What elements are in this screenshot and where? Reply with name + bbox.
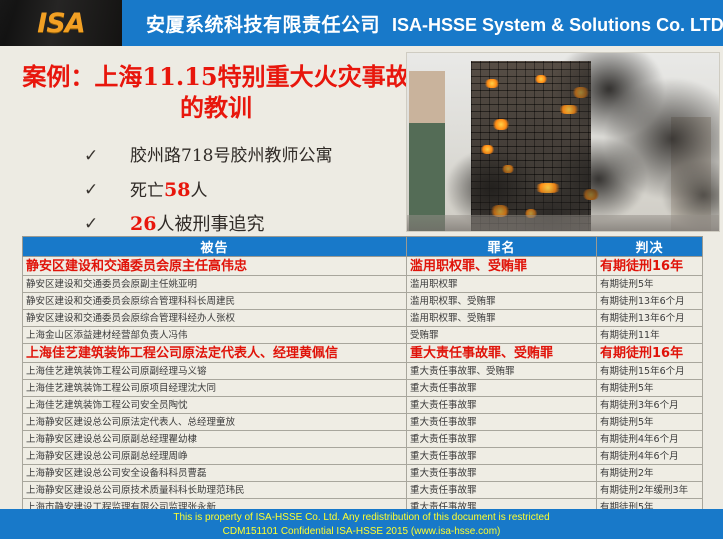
check-icon: ✓ [78,143,130,169]
cell-charge: 重大责任事故罪 [407,414,597,431]
cell-verdict: 有期徒刑13年6个月 [597,293,703,310]
table-row: 上海佳艺建筑装饰工程公司安全员陶忱重大责任事故罪有期徒刑3年6个月 [23,397,703,414]
deaths-prefix: 死亡 [130,181,164,201]
table-row: 上海静安区建设总公司原副总经理周峥重大责任事故罪有期徒刑4年6个月 [23,448,703,465]
col-header-verdict: 判决 [597,237,703,257]
cell-charge: 重大责任事故罪 [407,448,597,465]
list-item: ✓ 胶州路718号胶州教师公寓 [78,143,408,171]
cell-verdict: 有期徒刑3年6个月 [597,397,703,414]
footer-line-2: CDM151101 Confidential ISA-HSSE 2015 (ww… [0,525,723,539]
prosecuted-count: 26 [130,213,156,235]
cell-verdict: 有期徒刑2年 [597,465,703,482]
table-row: 上海静安区建设总公司原法定代表人、总经理童放重大责任事故罪有期徒刑5年 [23,414,703,431]
cell-defendant: 上海金山区添益建材经营部负责人冯伟 [23,327,407,344]
bullet-text-location: 胶州路718号胶州教师公寓 [130,143,332,169]
table-row: 上海佳艺建筑装饰工程公司原项目经理沈大同重大责任事故罪有期徒刑5年 [23,380,703,397]
cell-charge: 重大责任事故罪、受贿罪 [407,363,597,380]
cell-defendant: 静安区建设和交通委员会原主任高伟忠 [23,257,407,276]
cell-charge: 重大责任事故罪 [407,482,597,499]
cell-defendant: 上海佳艺建筑装饰工程公司安全员陶忱 [23,397,407,414]
table-row: 上海金山区添益建材经营部负责人冯伟受贿罪有期徒刑11年 [23,327,703,344]
cell-defendant: 上海静安区建设总公司原技术质量科科长助理范玮民 [23,482,407,499]
footer-bar: This is property of ISA-HSSE Co. Ltd. An… [0,509,723,539]
table-row: 静安区建设和交通委员会原综合管理科经办人张权滥用职权罪、受贿罪有期徒刑13年6个… [23,310,703,327]
logo-text: ISA [37,8,84,39]
cell-charge: 重大责任事故罪 [407,397,597,414]
page-title: 案例：上海11.15特别重大火灾事故 的教训 [22,62,410,123]
cell-verdict: 有期徒刑11年 [597,327,703,344]
cell-verdict: 有期徒刑2年缓刑3年 [597,482,703,499]
table-row: 上海静安区建设总公司原副总经理瞿幼棣重大责任事故罪有期徒刑4年6个月 [23,431,703,448]
photo-ground [407,215,719,231]
cell-charge: 滥用职权罪、受贿罪 [407,310,597,327]
cell-verdict: 有期徒刑16年 [597,257,703,276]
cell-charge: 重大责任事故罪 [407,380,597,397]
cell-defendant: 上海静安区建设总公司原副总经理瞿幼棣 [23,431,407,448]
cell-verdict: 有期徒刑4年6个月 [597,448,703,465]
cell-verdict: 有期徒刑15年6个月 [597,363,703,380]
footer-line-1: This is property of ISA-HSSE Co. Ltd. An… [0,511,723,525]
isa-logo: ISA [0,0,122,46]
cell-defendant: 上海佳艺建筑装饰工程公司原法定代表人、经理黄佩信 [23,344,407,363]
page-title-line2: 的教训 [22,93,410,124]
cell-verdict: 有期徒刑5年 [597,380,703,397]
check-icon: ✓ [78,177,130,203]
cell-charge: 重大责任事故罪、受贿罪 [407,344,597,363]
col-header-charge: 罪名 [407,237,597,257]
table-header-row: 被告 罪名 判决 [23,237,703,257]
table-row: 上海佳艺建筑装饰工程公司原法定代表人、经理黄佩信重大责任事故罪、受贿罪有期徒刑1… [23,344,703,363]
photo-building-left [409,71,445,231]
col-header-defendant: 被告 [23,237,407,257]
table-row: 静安区建设和交通委员会原副主任姚亚明滥用职权罪有期徒刑5年 [23,276,703,293]
company-name-cn: 安厦系统科技有限责任公司 [146,10,380,37]
cell-defendant: 上海静安区建设总公司安全设备科科员曹磊 [23,465,407,482]
cell-defendant: 上海佳艺建筑装饰工程公司原项目经理沈大同 [23,380,407,397]
list-item: ✓ 26人被刑事追究 [78,211,408,239]
cell-defendant: 上海佳艺建筑装饰工程公司原副经理马义镕 [23,363,407,380]
cell-defendant: 上海静安区建设总公司原法定代表人、总经理童放 [23,414,407,431]
fire-photo [406,52,720,232]
cell-defendant: 上海静安区建设总公司原副总经理周峥 [23,448,407,465]
table-row: 上海静安区建设总公司安全设备科科员曹磊重大责任事故罪有期徒刑2年 [23,465,703,482]
cell-verdict: 有期徒刑5年 [597,276,703,293]
cell-charge: 滥用职权罪 [407,276,597,293]
cell-verdict: 有期徒刑5年 [597,414,703,431]
bullet-text-prosecuted: 26人被刑事追究 [130,211,264,238]
table-row: 静安区建设和交通委员会原综合管理科科长周建民滥用职权罪、受贿罪有期徒刑13年6个… [23,293,703,310]
check-icon: ✓ [78,211,130,237]
photo-flame [485,79,499,88]
table-row: 静安区建设和交通委员会原主任高伟忠滥用职权罪、受贿罪有期徒刑16年 [23,257,703,276]
table-row: 上海静安区建设总公司原技术质量科科长助理范玮民重大责任事故罪有期徒刑2年缓刑3年 [23,482,703,499]
list-item: ✓ 死亡58人 [78,177,408,205]
bullet-list: ✓ 胶州路718号胶州教师公寓 ✓ 死亡58人 ✓ 26人被刑事追究 [78,143,408,245]
table-row: 上海佳艺建筑装饰工程公司原副经理马义镕重大责任事故罪、受贿罪有期徒刑15年6个月 [23,363,703,380]
table-body: 静安区建设和交通委员会原主任高伟忠滥用职权罪、受贿罪有期徒刑16年静安区建设和交… [23,257,703,533]
app-header-bar: ISA 安厦系统科技有限责任公司 ISA-HSSE System & Solut… [0,0,723,46]
page-title-line1: 案例：上海11.15特别重大火灾事故 [22,62,410,93]
cell-charge: 受贿罪 [407,327,597,344]
deaths-count: 58 [164,179,190,201]
cell-charge: 滥用职权罪、受贿罪 [407,257,597,276]
header-titles: 安厦系统科技有限责任公司 ISA-HSSE System & Solutions… [122,10,723,37]
verdict-table: 被告 罪名 判决 静安区建设和交通委员会原主任高伟忠滥用职权罪、受贿罪有期徒刑1… [22,236,703,533]
cell-charge: 重大责任事故罪 [407,465,597,482]
photo-smoke-plume [525,52,720,232]
prosecuted-suffix: 人被刑事追究 [156,214,264,235]
deaths-suffix: 人 [190,181,207,201]
cell-defendant: 静安区建设和交通委员会原副主任姚亚明 [23,276,407,293]
bullet-text-deaths: 死亡58人 [130,177,207,204]
company-name-en: ISA-HSSE System & Solutions Co. LTD [392,15,723,36]
slide-root: ISA 安厦系统科技有限责任公司 ISA-HSSE System & Solut… [0,0,723,539]
cell-defendant: 静安区建设和交通委员会原综合管理科经办人张权 [23,310,407,327]
cell-verdict: 有期徒刑4年6个月 [597,431,703,448]
cell-verdict: 有期徒刑16年 [597,344,703,363]
cell-defendant: 静安区建设和交通委员会原综合管理科科长周建民 [23,293,407,310]
cell-verdict: 有期徒刑13年6个月 [597,310,703,327]
cell-charge: 重大责任事故罪 [407,431,597,448]
cell-charge: 滥用职权罪、受贿罪 [407,293,597,310]
